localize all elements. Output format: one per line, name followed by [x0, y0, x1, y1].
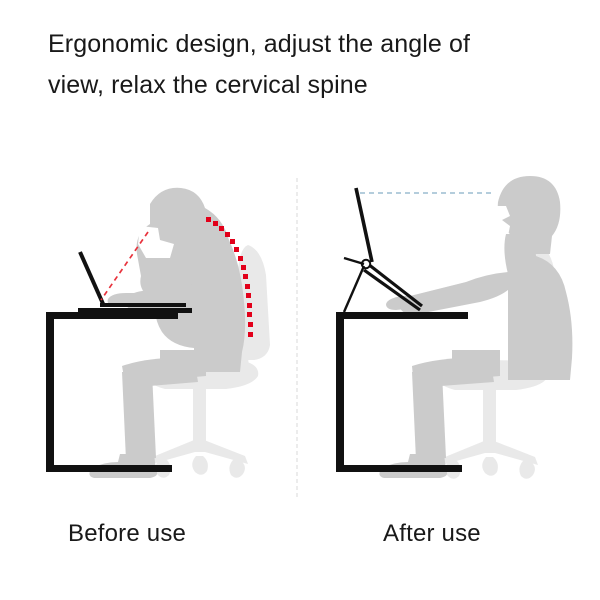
page-title-line-2: view, relax the cervical spine: [48, 65, 568, 106]
caption-before-use: Before use: [68, 520, 186, 548]
comparison-illustration: [0, 160, 600, 510]
desk-icon: [336, 312, 468, 472]
panel-captions: Before use After use: [0, 520, 600, 580]
infographic-page: Ergonomic design, adjust the angle of vi…: [0, 0, 600, 600]
desk-icon: [46, 312, 178, 472]
seated-person-icon: [89, 188, 245, 478]
page-title-line-1: Ergonomic design, adjust the angle of: [48, 24, 568, 65]
panel-after-use: [336, 176, 572, 479]
seated-person-icon: [379, 176, 572, 478]
panel-before-use: [46, 188, 270, 478]
caption-after-use: After use: [383, 520, 481, 548]
laptop-stand-icon: [344, 188, 422, 312]
page-title: Ergonomic design, adjust the angle of vi…: [48, 24, 568, 105]
